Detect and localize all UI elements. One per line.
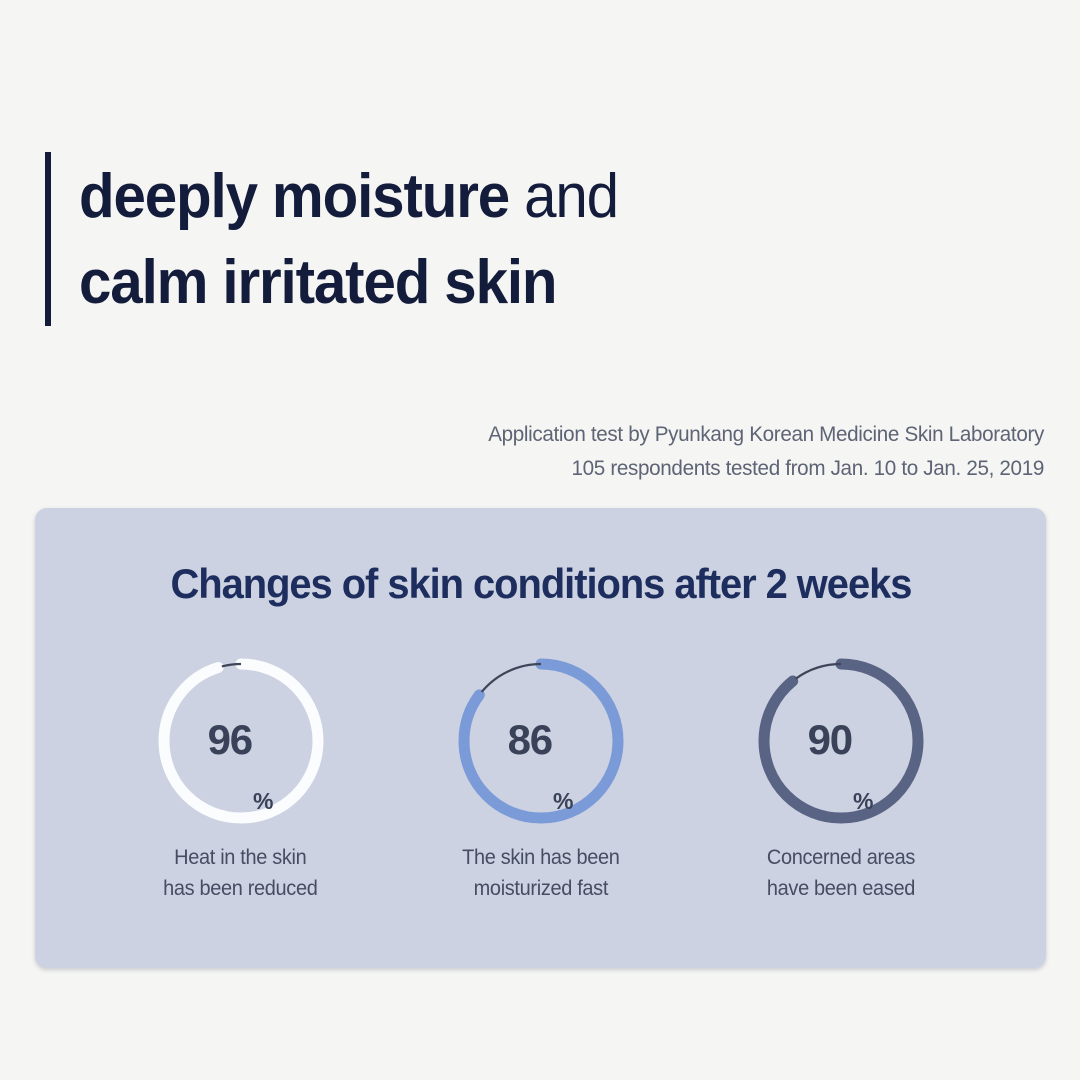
donut-caption-line-2: has been reduced bbox=[163, 873, 317, 904]
donut-chart: 90 % bbox=[758, 658, 924, 824]
donut-caption: Heat in the skin has been reduced bbox=[159, 842, 322, 904]
credit-block: Application test by Pyunkang Korean Medi… bbox=[384, 417, 1044, 485]
headline-lines: deeply moisture and calm irritated skin bbox=[79, 152, 652, 326]
donut-value: 96 % bbox=[158, 658, 324, 824]
credit-line-2: 105 respondents tested from Jan. 10 to J… bbox=[410, 451, 1044, 485]
donut-value-number: 96 bbox=[208, 716, 252, 764]
donut-value: 86 % bbox=[458, 658, 624, 824]
donut-caption-line-1: Heat in the skin bbox=[163, 842, 317, 873]
donut-percent-symbol: % bbox=[253, 788, 273, 822]
donut-value: 90 % bbox=[758, 658, 924, 824]
donut-cell: 96 % Heat in the skin has been reduced bbox=[143, 658, 339, 904]
donut-row: 96 % Heat in the skin has been reduced 8… bbox=[35, 658, 1046, 904]
credit-line-1: Application test by Pyunkang Korean Medi… bbox=[410, 417, 1044, 451]
donut-caption-line-2: have been eased bbox=[766, 873, 914, 904]
donut-percent-symbol: % bbox=[553, 788, 573, 822]
panel-title: Changes of skin conditions after 2 weeks bbox=[35, 560, 1046, 608]
panel-title-text: Changes of skin conditions after 2 weeks bbox=[170, 560, 911, 608]
headline-line-1: deeply moisture and bbox=[79, 154, 618, 240]
donut-value-number: 90 bbox=[808, 716, 852, 764]
donut-chart: 96 % bbox=[158, 658, 324, 824]
headline-line-2: calm irritated skin bbox=[79, 240, 618, 326]
accent-bar-icon bbox=[45, 152, 51, 326]
headline-light-text: and bbox=[509, 162, 618, 231]
donut-caption-line-1: Concerned areas bbox=[766, 842, 914, 873]
donut-value-number: 86 bbox=[508, 716, 552, 764]
headline-block: deeply moisture and calm irritated skin bbox=[45, 152, 652, 326]
donut-caption-line-1: The skin has been bbox=[462, 842, 619, 873]
donut-chart: 86 % bbox=[458, 658, 624, 824]
donut-caption-line-2: moisturized fast bbox=[462, 873, 619, 904]
donut-caption: The skin has been moisturized fast bbox=[458, 842, 624, 904]
donut-cell: 90 % Concerned areas have been eased bbox=[743, 658, 939, 904]
donut-caption: Concerned areas have been eased bbox=[763, 842, 919, 904]
donut-percent-symbol: % bbox=[853, 788, 873, 822]
headline-strong-text: deeply moisture bbox=[79, 162, 509, 231]
donut-cell: 86 % The skin has been moisturized fast bbox=[443, 658, 639, 904]
stats-panel: Changes of skin conditions after 2 weeks… bbox=[35, 508, 1046, 968]
